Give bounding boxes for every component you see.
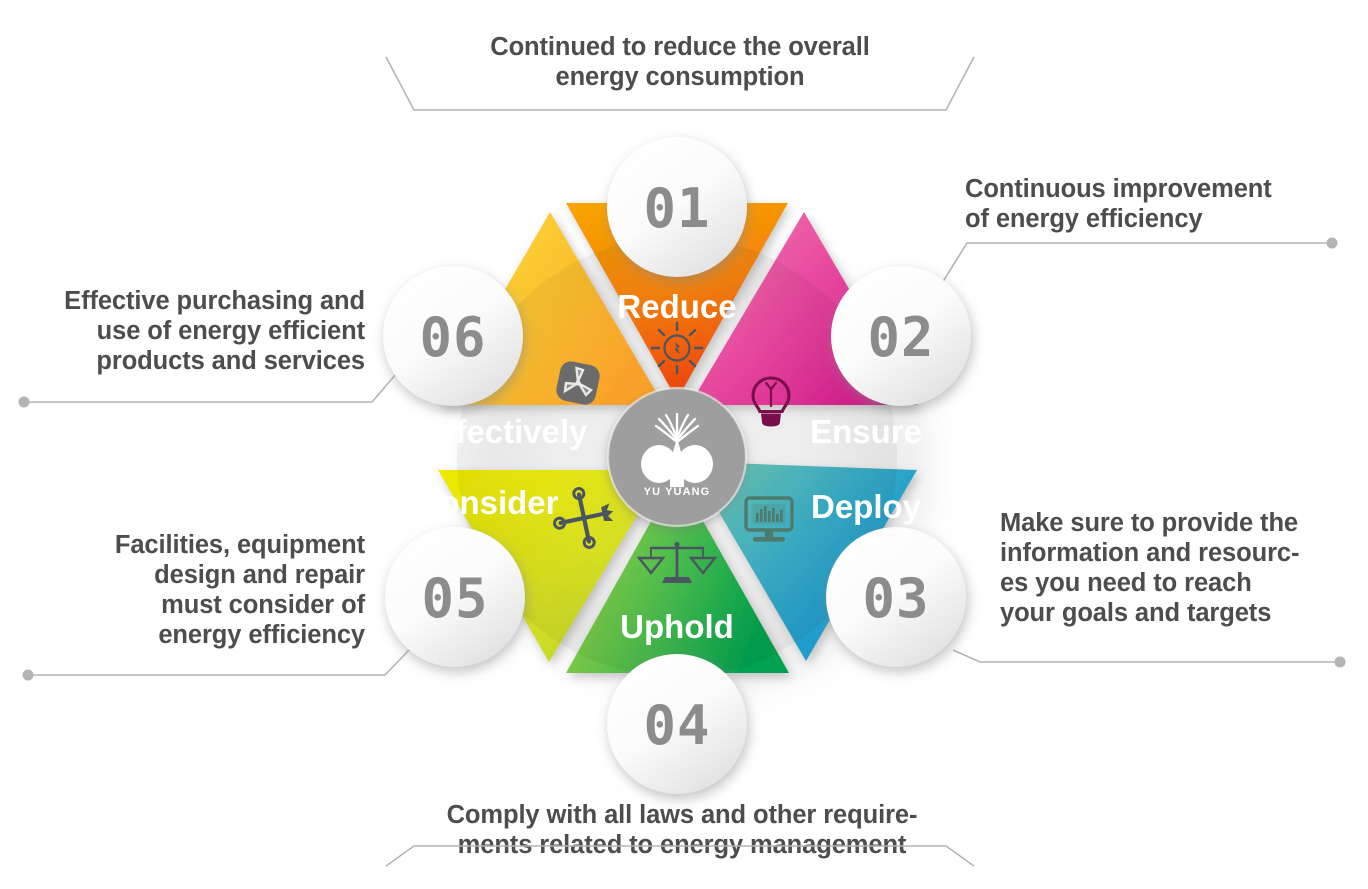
segment-label-05: Consider xyxy=(415,484,558,521)
segment-03-shape[interactable] xyxy=(693,462,917,661)
number-bubble-03-text: 03 xyxy=(862,567,929,630)
computer-monitor-icon xyxy=(746,498,792,542)
callout-03-line4: your goals and targets xyxy=(1000,598,1360,628)
connector-line-06 xyxy=(24,374,396,402)
center-logo-ring xyxy=(608,388,746,526)
lightbulb-icon xyxy=(753,378,789,427)
connector-line-03 xyxy=(953,650,1340,662)
number-bubble-02[interactable]: 02 xyxy=(831,266,971,406)
callout-01-line2: energy consumption xyxy=(380,62,980,92)
callout-text-04: Comply with all laws and other require- … xyxy=(382,800,982,860)
number-bubble-03-circle[interactable] xyxy=(826,527,966,667)
segment-labels: Reduce Ensure Deploy Uphold Consider Eff… xyxy=(415,288,921,645)
number-bubble-02-text: 02 xyxy=(867,306,934,369)
number-bubble-05[interactable]: 05 xyxy=(385,527,525,667)
segment-01-reduce[interactable] xyxy=(566,203,788,395)
wheel-vignette xyxy=(457,237,897,677)
number-bubble-02-circle[interactable] xyxy=(831,266,971,406)
center-logo[interactable]: YU YUANG xyxy=(608,388,746,526)
connector-dot-05 xyxy=(23,670,34,681)
hexagon-wheel-container: Reduce Ensure Deploy Uphold Consider Eff… xyxy=(0,0,1368,889)
callout-03-line1: Make sure to provide the xyxy=(1000,508,1360,538)
callout-03-line3: es you need to reach xyxy=(1000,568,1360,598)
callout-02-line1: Continuous improvement xyxy=(965,174,1365,204)
callout-text-06: Effective purchasing and use of energy e… xyxy=(8,286,365,376)
center-logo-circle[interactable] xyxy=(608,388,746,526)
callout-text-05: Facilities, equipment design and repair … xyxy=(8,530,365,650)
segment-label-01: Reduce xyxy=(617,288,736,325)
wheel-ambient-shadow xyxy=(470,245,930,695)
callout-03-line2: information and resourc- xyxy=(1000,538,1360,568)
number-bubble-01[interactable]: 01 xyxy=(607,137,747,277)
wrench-tools-icon xyxy=(548,482,619,553)
callout-05-line4: energy efficiency xyxy=(8,620,365,650)
number-bubble-03[interactable]: 03 xyxy=(826,527,966,667)
segment-01-shape[interactable] xyxy=(566,203,788,395)
segment-05-consider[interactable] xyxy=(438,470,661,662)
segment-05-shape[interactable] xyxy=(438,470,661,662)
segment-label-02: Ensure xyxy=(810,413,922,450)
callout-02-line2: of energy efficiency xyxy=(965,204,1365,234)
callout-text-01: Continued to reduce the overall energy c… xyxy=(380,32,980,92)
wind-turbine-icon xyxy=(554,359,601,406)
callout-text-02: Continuous improvement of energy efficie… xyxy=(965,174,1365,234)
number-bubble-05-circle[interactable] xyxy=(385,527,525,667)
segment-03-deploy[interactable] xyxy=(693,462,917,661)
segment-02-shape[interactable] xyxy=(693,212,917,405)
scales-balance-icon xyxy=(639,542,715,583)
callout-05-line3: must consider of xyxy=(8,590,365,620)
segment-label-03: Deploy xyxy=(811,488,922,525)
segment-04-shape[interactable] xyxy=(566,480,789,673)
callout-05-line1: Facilities, equipment xyxy=(8,530,365,560)
segment-04-uphold[interactable] xyxy=(566,480,789,673)
callout-06-line2: use of energy efficient xyxy=(8,316,365,346)
segment-06-effectively[interactable] xyxy=(438,212,661,405)
number-bubble-06-text: 06 xyxy=(419,306,486,369)
callout-text-03: Make sure to provide the information and… xyxy=(1000,508,1360,628)
connector-dot-02 xyxy=(1327,238,1338,249)
segment-06-shape[interactable] xyxy=(438,212,661,405)
segment-02-ensure[interactable] xyxy=(693,212,917,405)
connector-dot-06 xyxy=(19,397,30,408)
wheel-segments xyxy=(438,203,917,673)
connector-line-05 xyxy=(28,647,412,675)
number-bubble-04-text: 04 xyxy=(643,694,710,757)
number-bubble-01-circle[interactable] xyxy=(607,137,747,277)
connector-line-02 xyxy=(939,243,1332,288)
sun-energy-icon xyxy=(652,323,702,373)
number-bubbles: 01 02 03 04 05 06 xyxy=(383,137,971,794)
number-bubble-06[interactable]: 06 xyxy=(383,266,523,406)
number-bubble-01-text: 01 xyxy=(643,177,710,240)
number-bubble-05-text: 05 xyxy=(421,567,488,630)
callout-05-line2: design and repair xyxy=(8,560,365,590)
connector-dot-03 xyxy=(1335,657,1346,668)
callout-06-line1: Effective purchasing and xyxy=(8,286,365,316)
callout-04-line1: Comply with all laws and other require- xyxy=(382,800,982,830)
callout-04-line2: ments related to energy management xyxy=(382,830,982,860)
segment-label-06: Effectively xyxy=(422,413,588,450)
callout-01-line1: Continued to reduce the overall xyxy=(380,32,980,62)
segment-label-04: Uphold xyxy=(620,608,734,645)
callout-06-line3: products and services xyxy=(8,346,365,376)
center-logo-label: YU YUANG xyxy=(644,486,711,498)
infographic-canvas: Continued to reduce the overall energy c… xyxy=(0,0,1368,889)
number-bubble-04-circle[interactable] xyxy=(607,654,747,794)
plant-leaf-logo-icon xyxy=(641,414,713,487)
number-bubble-06-circle[interactable] xyxy=(383,266,523,406)
number-bubble-04[interactable]: 04 xyxy=(607,654,747,794)
